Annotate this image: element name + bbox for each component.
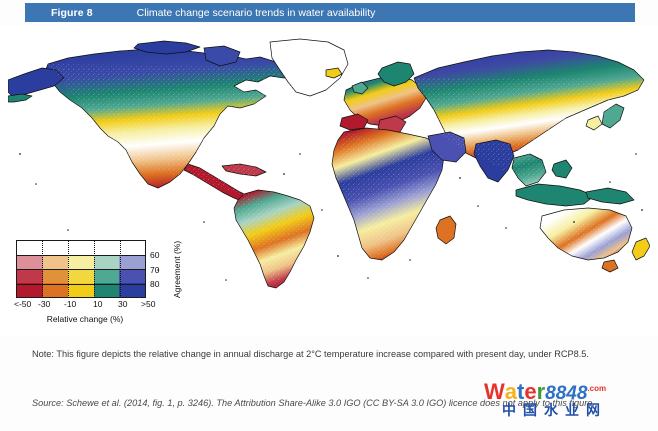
legend-cell-r3c2 <box>68 283 94 297</box>
legend-cell-r1c2 <box>68 255 94 269</box>
figure-header-bar: Figure 8 Climate change scenario trends … <box>25 3 635 22</box>
legend-cell-r1c0 <box>17 255 43 269</box>
legend-cell-r0c0 <box>17 241 43 255</box>
legend-cell-r0c3 <box>94 241 120 255</box>
legend-row-line-1 <box>16 255 146 256</box>
legend-cell-r2c4 <box>119 269 145 283</box>
legend-x-tick-lt50: <-50 <box>14 300 31 309</box>
legend-cell-r3c4 <box>119 283 145 297</box>
legend-cell-r2c1 <box>43 269 69 283</box>
legend-cell-r3c3 <box>94 283 120 297</box>
legend-row-line-3 <box>16 284 146 285</box>
legend-x-axis-title: Relative change (%) <box>20 314 150 324</box>
figure-number: Figure 8 <box>51 7 93 19</box>
legend-y-axis-title: Agreement (%) <box>170 238 184 300</box>
legend-x-tick-gt50: >50 <box>141 300 155 309</box>
figure-title: Climate change scenario trends in water … <box>137 7 376 19</box>
legend-cell-r2c0 <box>17 269 43 283</box>
legend-cell-r2c3 <box>94 269 120 283</box>
legend-x-tick-labels: <-50 -30 -10 10 30 >50 <box>14 300 164 312</box>
legend-cell-r2c2 <box>68 269 94 283</box>
legend-x-tick-10: 10 <box>93 300 102 309</box>
legend-cell-r3c1 <box>43 283 69 297</box>
legend-y-tick-70: 70 <box>150 266 159 275</box>
figure-source: Source: Schewe et al. (2014, fig. 1, p. … <box>32 397 632 410</box>
legend-cell-r0c4 <box>119 241 145 255</box>
figure-note: Note: This figure depicts the relative c… <box>32 348 624 362</box>
legend-row-line-2 <box>16 269 146 270</box>
legend-x-tick-m10: -10 <box>64 300 76 309</box>
legend-cell-r3c0 <box>17 283 43 297</box>
figure-page: Figure 8 Climate change scenario trends … <box>0 0 658 431</box>
map-legend: 60 70 80 Agreement (%) <-50 -30 -10 10 3… <box>14 240 214 332</box>
legend-cell-r0c2 <box>68 241 94 255</box>
legend-cell-r1c1 <box>43 255 69 269</box>
figure-plate: 60 70 80 Agreement (%) <-50 -30 -10 10 3… <box>0 26 658 336</box>
legend-y-tick-60: 60 <box>150 251 159 260</box>
legend-cell-r0c1 <box>43 241 69 255</box>
figure-caption-block: Note: This figure depicts the relative c… <box>0 336 658 431</box>
legend-x-tick-m30: -30 <box>38 300 50 309</box>
legend-y-tick-80: 80 <box>150 280 159 289</box>
legend-x-tick-30: 30 <box>118 300 127 309</box>
legend-cell-r1c4 <box>119 255 145 269</box>
legend-cell-r1c3 <box>94 255 120 269</box>
